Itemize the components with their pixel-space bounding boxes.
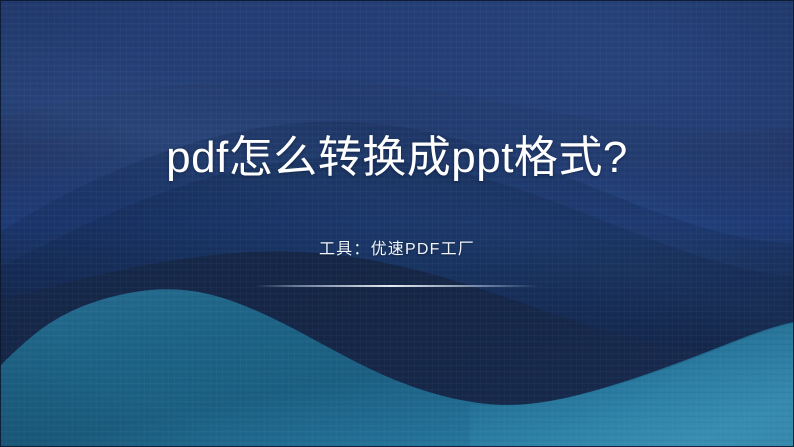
slide-subtitle: 工具：优速PDF工厂 [0,238,794,262]
presentation-slide: pdf怎么转换成ppt格式? 工具：优速PDF工厂 [0,0,794,447]
slide-title: pdf怎么转换成ppt格式? [0,128,794,188]
title-divider-line [255,285,539,287]
title-block: pdf怎么转换成ppt格式? 工具：优速PDF工厂 [0,0,794,447]
